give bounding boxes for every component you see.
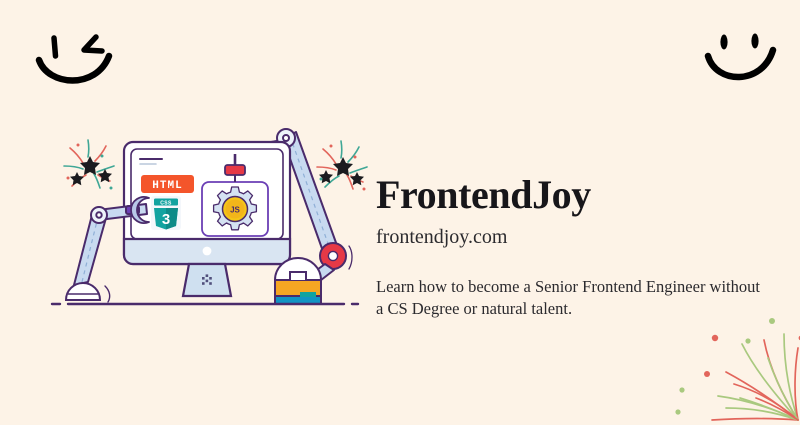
smiley-face-icon-right [700, 18, 786, 88]
brand-tagline: Learn how to become a Senior Frontend En… [376, 276, 768, 320]
page-title: FrontendJoy [376, 172, 776, 218]
html-badge-label: HTML [152, 180, 182, 192]
smiley-face-icon-left [34, 18, 126, 90]
dome-base-icon [66, 283, 110, 302]
banner-canvas: HTML CSS 3 JS [0, 0, 800, 420]
js-label: JS [230, 206, 240, 215]
css3-version-label: 3 [162, 211, 170, 228]
javascript-gear-icon: JS [202, 175, 268, 236]
html-badge-icon: HTML [141, 175, 194, 193]
robot-arms-building-website-illustration: HTML CSS 3 JS [50, 120, 360, 320]
toolbox-icon [275, 258, 321, 304]
css3-shield-icon: CSS 3 [151, 196, 181, 230]
brand-text-block: FrontendJoy frontendjoy.com Learn how to… [376, 172, 776, 320]
brand-domain: frontendjoy.com [376, 224, 776, 250]
css3-label: CSS [160, 200, 172, 206]
